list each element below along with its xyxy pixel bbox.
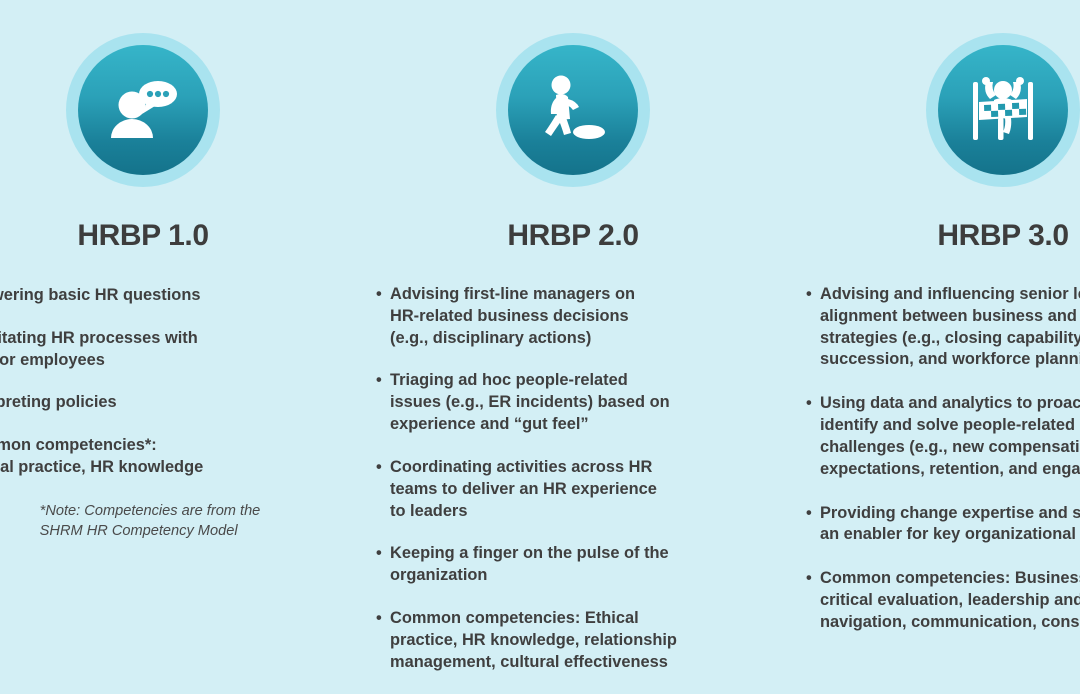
badge-inner-hrbp-1 xyxy=(78,45,208,175)
bullet-text: Common competencies: Ethical practice, H… xyxy=(390,608,770,673)
heading-hrbp-3: HRBP 3.0 xyxy=(937,221,1068,251)
bullet-text: Using data and analytics to proactively … xyxy=(820,393,1080,480)
list-item: • Common competencies: Business acumen, … xyxy=(806,568,1080,633)
list-item: • Using data and analytics to proactivel… xyxy=(806,393,1080,480)
bullet-text: Keeping a finger on the pulse of the org… xyxy=(390,543,770,587)
list-item: • Advising first-line managers on HR-rel… xyxy=(376,284,770,349)
list-item: • Coordinating activities across HR team… xyxy=(376,457,770,522)
bullet-marker: • xyxy=(806,568,820,633)
bullet-text: Triaging ad hoc people-related issues (e… xyxy=(390,370,770,435)
badge-hrbp-3 xyxy=(926,33,1080,187)
list-item: • Facilitating HR processes with and for… xyxy=(0,328,340,372)
competency-source-note: *Note: Competencies are from the SHRM HR… xyxy=(26,502,261,541)
columns-container: HRBP 1.0 • Answering basic HR questions … xyxy=(0,0,1080,675)
person-speech-bubble-icon xyxy=(101,68,185,152)
badge-inner-hrbp-3 xyxy=(938,45,1068,175)
bullet-text: Common competencies: Business acumen, cr… xyxy=(820,568,1080,633)
bullet-text: Facilitating HR processes with and for e… xyxy=(0,328,340,372)
bullet-marker: • xyxy=(376,284,390,349)
bullet-marker: • xyxy=(376,457,390,522)
list-item: • Providing change expertise and serving… xyxy=(806,503,1080,547)
list-item: • Triaging ad hoc people-related issues … xyxy=(376,370,770,435)
bullet-text: Advising first-line managers on HR-relat… xyxy=(390,284,770,349)
bullet-marker: • xyxy=(806,284,820,371)
column-hrbp-2: HRBP 2.0 • Advising first-line managers … xyxy=(358,0,788,675)
list-item: • Interpreting policies xyxy=(0,392,340,414)
list-item: • Advising and influencing senior leader… xyxy=(806,284,1080,371)
infographic-canvas: HRBP 1.0 • Answering basic HR questions … xyxy=(0,0,1080,675)
bullet-list-hrbp-3: • Advising and influencing senior leader… xyxy=(806,284,1080,656)
bullet-text: Advising and influencing senior leaders … xyxy=(820,284,1080,371)
badge-hrbp-2 xyxy=(496,33,650,187)
bullet-text: Coordinating activities across HR teams … xyxy=(390,457,770,522)
column-hrbp-3: HRBP 3.0 • Advising and influencing seni… xyxy=(788,0,1080,675)
bullet-marker: • xyxy=(806,393,820,480)
bullet-list-hrbp-1: • Answering basic HR questions • Facilit… xyxy=(0,285,340,500)
bullet-text: Interpreting policies xyxy=(0,392,340,414)
bullet-marker: • xyxy=(806,503,820,547)
badge-inner-hrbp-2 xyxy=(508,45,638,175)
heading-hrbp-2: HRBP 2.0 xyxy=(507,221,638,251)
bullet-list-hrbp-2: • Advising first-line managers on HR-rel… xyxy=(376,284,770,694)
bullet-text: Answering basic HR questions xyxy=(0,285,340,307)
heading-hrbp-1: HRBP 1.0 xyxy=(77,221,208,251)
list-item: • Answering basic HR questions xyxy=(0,285,340,307)
bullet-marker: • xyxy=(376,543,390,587)
list-item: • Keeping a finger on the pulse of the o… xyxy=(376,543,770,587)
bullet-marker: • xyxy=(376,608,390,673)
person-crossing-finish-line-icon xyxy=(961,68,1045,152)
list-item: • Common competencies*: Ethical practice… xyxy=(0,435,340,479)
column-hrbp-1: HRBP 1.0 • Answering basic HR questions … xyxy=(0,0,358,675)
bullet-marker: • xyxy=(376,370,390,435)
bullet-text: Providing change expertise and serving a… xyxy=(820,503,1080,547)
badge-hrbp-1 xyxy=(66,33,220,187)
bullet-text: Common competencies*: Ethical practice, … xyxy=(0,435,340,479)
list-item: • Common competencies: Ethical practice,… xyxy=(376,608,770,673)
person-walking-toward-hole-icon xyxy=(531,68,615,152)
